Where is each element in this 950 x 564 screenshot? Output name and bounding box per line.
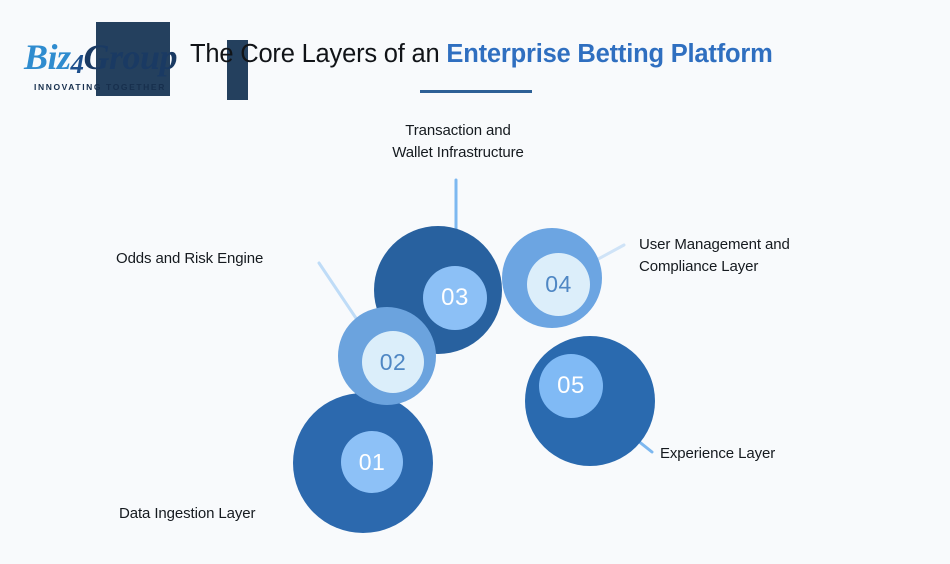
node-04-label: User Management andCompliance Layer <box>639 234 859 278</box>
node-03-label: Transaction andWallet Infrastructure <box>358 120 558 164</box>
logo-tagline: INNOVATING TOGETHER <box>34 82 166 92</box>
node-02-label: Odds and Risk Engine <box>116 248 346 270</box>
page-title: The Core Layers of an Enterprise Betting… <box>190 40 890 69</box>
header: Biz4Group INNOVATING TOGETHER The Core L… <box>0 0 950 105</box>
page-title-accent: Enterprise Betting Platform <box>446 40 772 68</box>
node-02-number-badge[interactable]: 02 <box>362 331 424 393</box>
node-04-label-line-1: User Management and <box>639 234 859 256</box>
node-05-number-badge[interactable]: 05 <box>539 354 603 418</box>
node-04-label-line-2: Compliance Layer <box>639 256 859 278</box>
brand-logo: Biz4Group INNOVATING TOGETHER <box>18 18 178 90</box>
node-01-number-badge[interactable]: 01 <box>341 431 403 493</box>
node-03-number-badge[interactable]: 03 <box>423 266 487 330</box>
logo-word-group: Group <box>84 37 178 77</box>
node-01-label: Data Ingestion Layer <box>119 503 339 525</box>
node-03-label-line-1: Transaction and <box>358 120 558 142</box>
layers-diagram: 03 05 04 01 02 Data Ingestion Layer Odds… <box>0 100 950 564</box>
page-title-plain: The Core Layers of an <box>190 40 446 68</box>
logo-word-four: 4 <box>71 49 84 79</box>
node-04-number-badge[interactable]: 04 <box>527 253 590 316</box>
infographic-canvas: Biz4Group INNOVATING TOGETHER The Core L… <box>0 0 950 564</box>
logo-wordmark: Biz4Group <box>24 36 177 78</box>
node-03-label-line-2: Wallet Infrastructure <box>358 142 558 164</box>
logo-word-biz: Biz <box>24 37 71 77</box>
title-underline <box>420 90 532 93</box>
node-05-label: Experience Layer <box>660 443 880 465</box>
